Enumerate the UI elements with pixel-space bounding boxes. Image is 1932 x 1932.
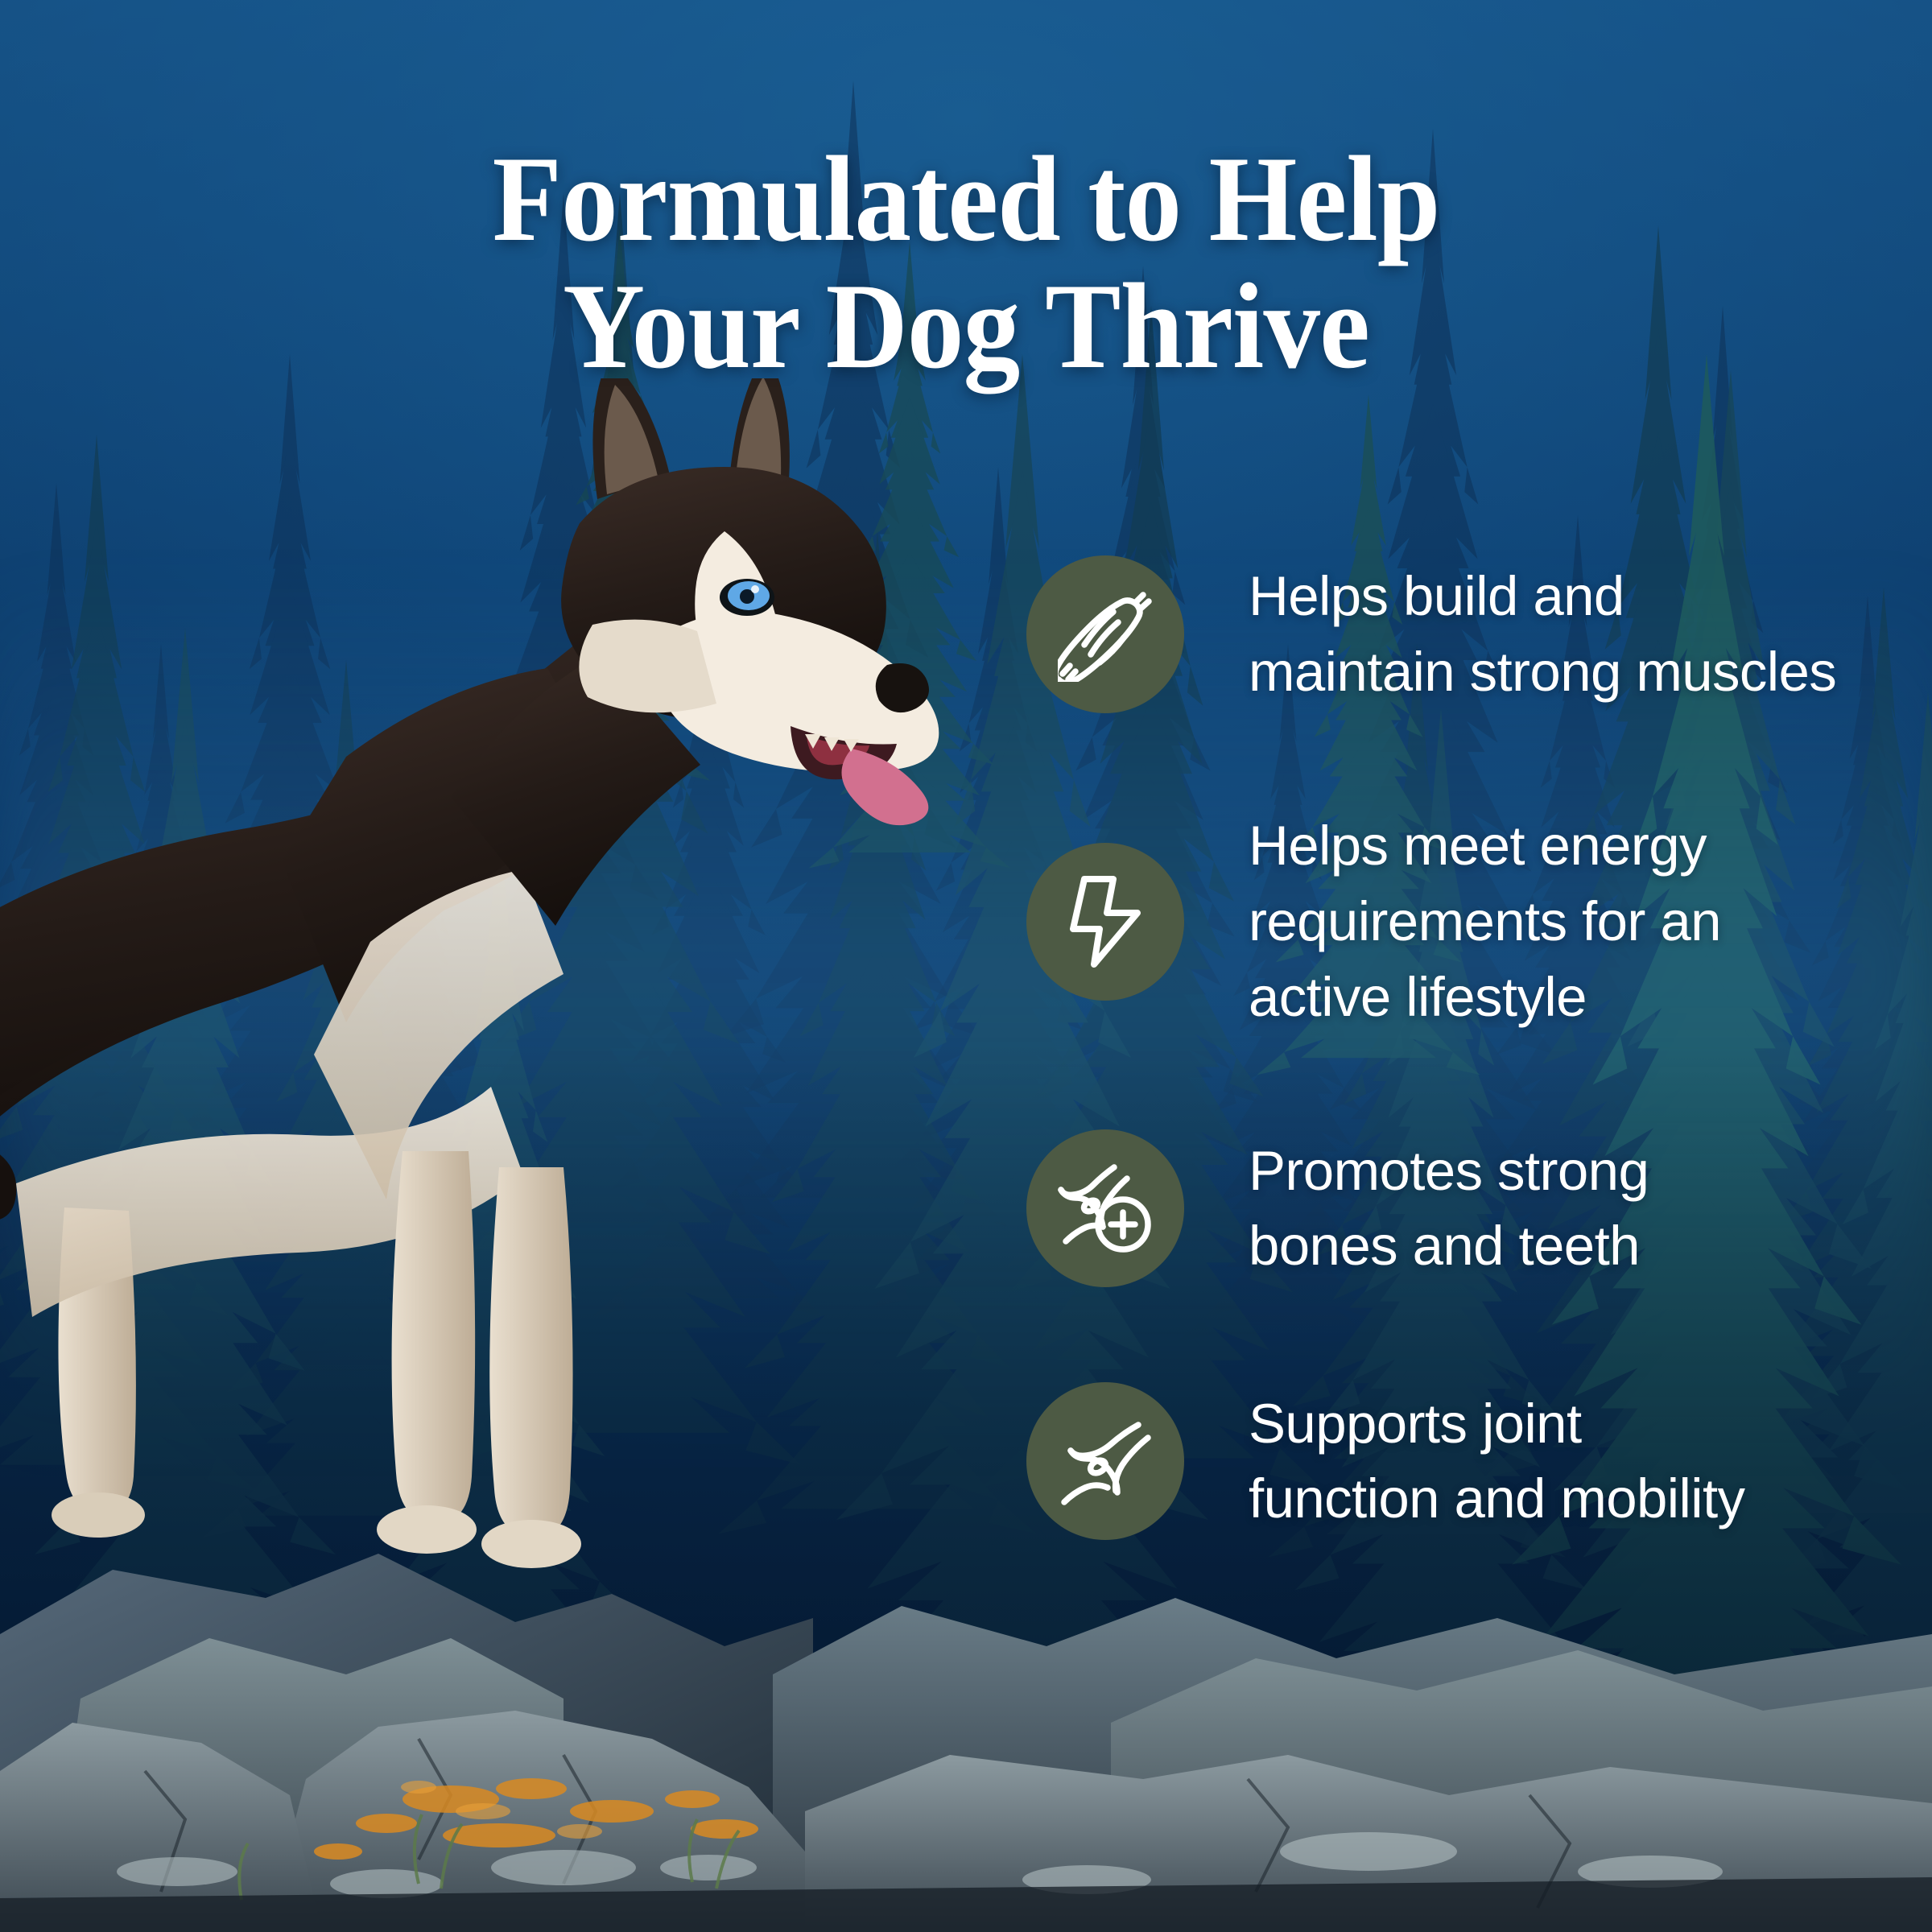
benefit-item-joints: Supports joint function and mobility xyxy=(1026,1382,1847,1540)
lightning-bolt-icon xyxy=(1026,843,1184,1001)
page-title-line-2: Your Dog Thrive xyxy=(68,262,1864,390)
husky-svg xyxy=(0,378,1030,1666)
benefit-item-energy: Helps meet energy requirements for an ac… xyxy=(1026,808,1847,1034)
benefit-line: Helps build and xyxy=(1249,565,1624,627)
benefit-text-joints: Supports joint function and mobility xyxy=(1249,1386,1744,1538)
benefit-text-bones: Promotes strong bones and teeth xyxy=(1249,1133,1649,1285)
benefit-line: Helps meet energy xyxy=(1249,815,1707,877)
marketing-banner: Formulated to Help Your Dog Thrive xyxy=(0,0,1932,1932)
benefit-text-energy: Helps meet energy requirements for an ac… xyxy=(1249,808,1721,1034)
benefit-text-muscle: Helps build and maintain strong muscles xyxy=(1249,559,1836,710)
bone-joint-plus-icon xyxy=(1026,1129,1184,1287)
benefit-line: bones and teeth xyxy=(1249,1215,1640,1277)
benefit-line: requirements for an xyxy=(1249,890,1721,952)
benefits-list: Helps build and maintain strong muscles … xyxy=(1026,555,1847,1540)
page-title: Formulated to Help Your Dog Thrive xyxy=(0,135,1932,390)
benefit-line: Supports joint xyxy=(1249,1393,1582,1455)
benefit-item-muscle: Helps build and maintain strong muscles xyxy=(1026,555,1847,713)
joint-mobility-icon xyxy=(1026,1382,1184,1540)
page-title-line-1: Formulated to Help xyxy=(68,135,1864,262)
benefit-item-bones: Promotes strong bones and teeth xyxy=(1026,1129,1847,1287)
muscle-icon xyxy=(1026,555,1184,713)
husky-dog-photo xyxy=(0,378,1030,1666)
benefit-line: maintain strong muscles xyxy=(1249,641,1836,703)
benefit-line: function and mobility xyxy=(1249,1468,1744,1529)
benefit-line: active lifestyle xyxy=(1249,966,1587,1028)
benefit-line: Promotes strong xyxy=(1249,1140,1649,1202)
